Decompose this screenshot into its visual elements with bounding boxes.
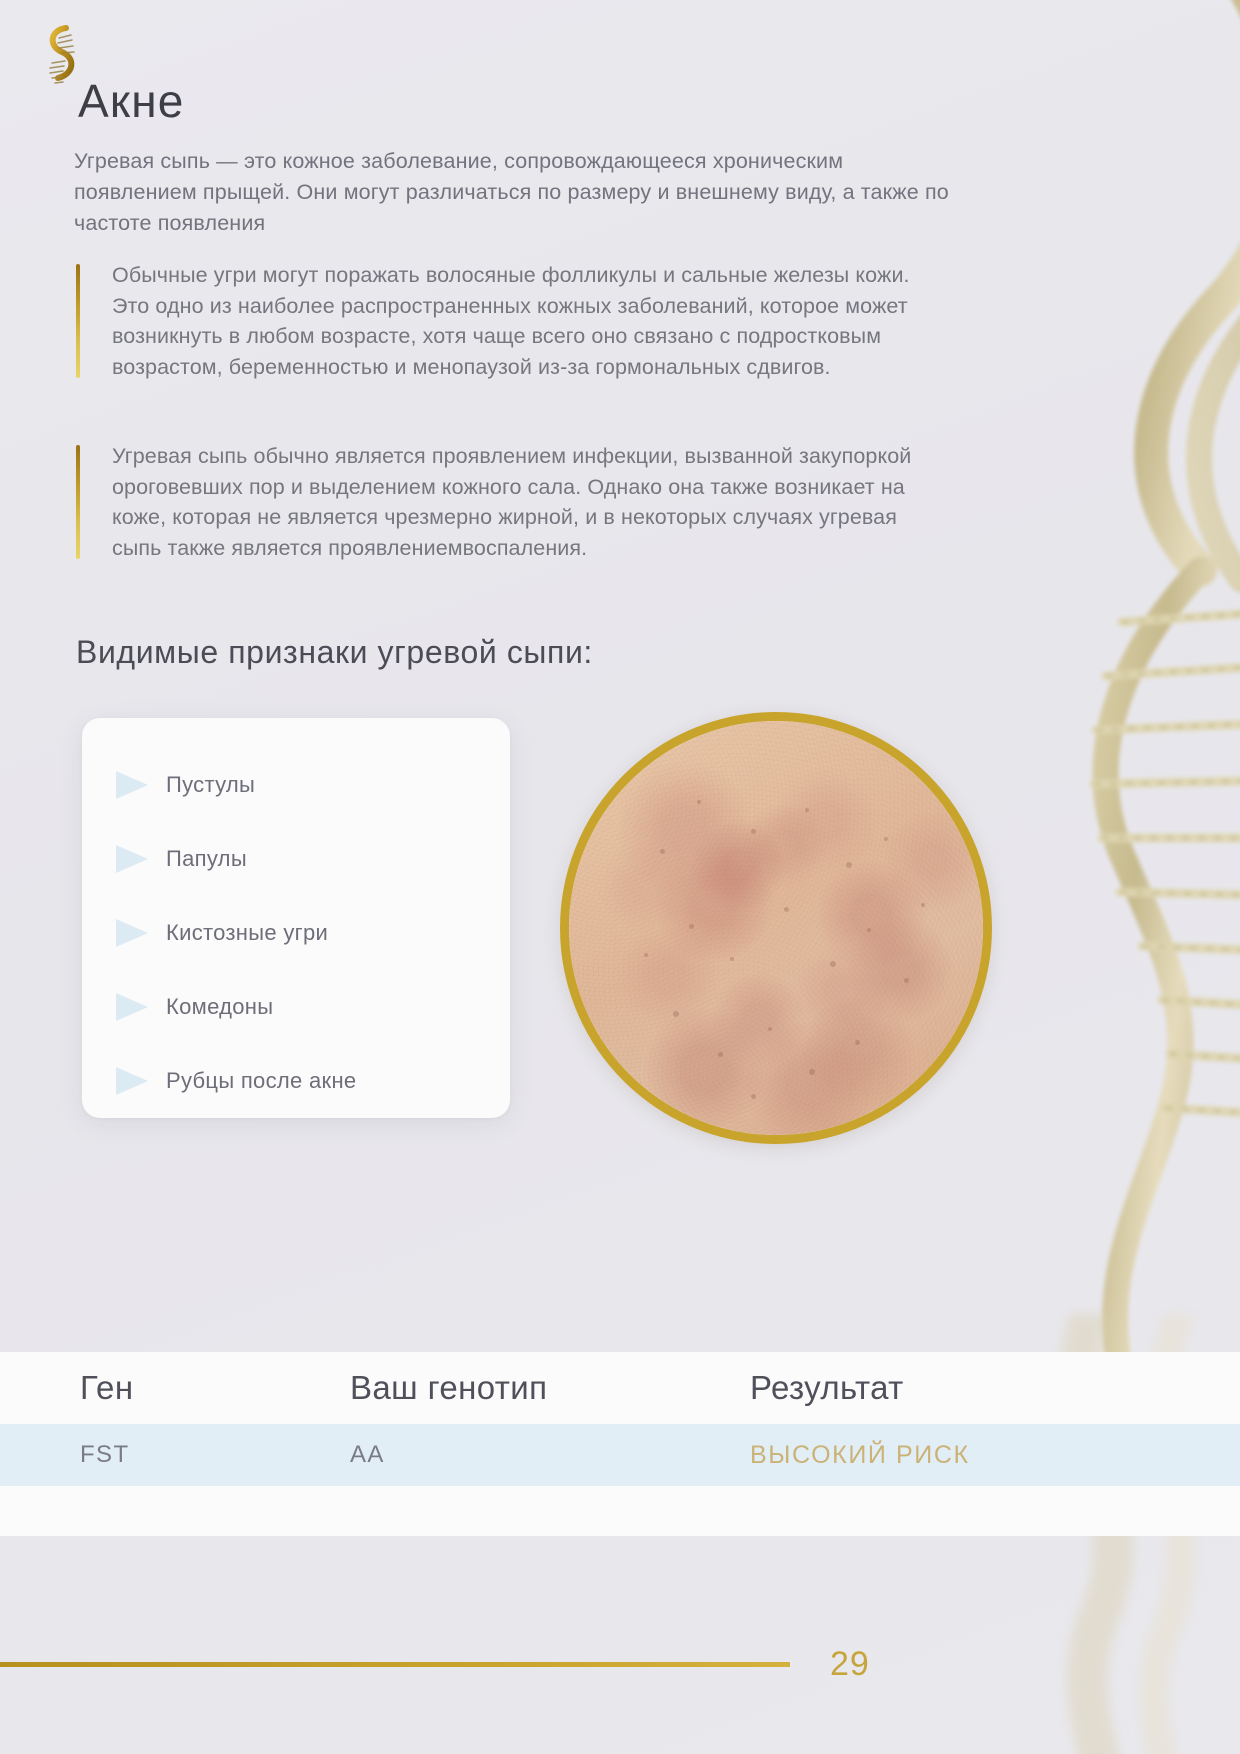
table-cell-genotype: AA [350, 1441, 750, 1469]
page-title: Акне [78, 74, 185, 128]
footer-rule [0, 1662, 790, 1667]
results-table: Ген Ваш генотип Результат FST AA ВЫСОКИЙ… [0, 1352, 1240, 1536]
table-cell-gene: FST [0, 1441, 350, 1469]
page-canvas: Акне Угревая сыпь — это кожное заболеван… [0, 0, 1240, 1754]
triangle-right-icon [112, 768, 152, 802]
list-item-label: Кистозные угри [166, 920, 328, 946]
list-item-label: Пустулы [166, 772, 255, 798]
triangle-right-icon [112, 842, 152, 876]
list-item: Рубцы после акне [82, 1044, 510, 1118]
intro-paragraph: Угревая сыпь — это кожное заболевание, с… [74, 146, 954, 239]
triangle-right-icon [112, 990, 152, 1024]
list-item: Папулы [82, 822, 510, 896]
quote-block-1: Обычные угри могут поражать волосяные фо… [76, 260, 946, 382]
table-footer-spacer [0, 1486, 1240, 1536]
list-item: Кистозные угри [82, 896, 510, 970]
table-header-genotype: Ваш генотип [350, 1369, 750, 1407]
acne-skin-closeup-photo [560, 712, 992, 1144]
table-header-result: Результат [750, 1369, 1160, 1407]
table-header-gene: Ген [0, 1369, 350, 1407]
list-item-label: Папулы [166, 846, 247, 872]
page-footer: 29 [0, 1644, 1240, 1684]
triangle-right-icon [112, 1064, 152, 1098]
list-item: Пустулы [82, 748, 510, 822]
triangle-right-icon [112, 916, 152, 950]
status-badge: ВЫСОКИЙ РИСК [750, 1441, 1160, 1470]
list-item: Комедоны [82, 970, 510, 1044]
table-header-row: Ген Ваш генотип Результат [0, 1352, 1240, 1424]
dna-helix-logo-icon [38, 22, 84, 94]
symptoms-card: Пустулы Папулы Кистозные угри [82, 718, 510, 1118]
list-item-label: Рубцы после акне [166, 1068, 356, 1094]
quote-text-1: Обычные угри могут поражать волосяные фо… [112, 263, 910, 379]
page-number: 29 [830, 1645, 870, 1684]
quote-text-2: Угревая сыпь обычно является проявлением… [112, 444, 911, 560]
list-item-label: Комедоны [166, 994, 273, 1020]
section-subheading: Видимые признаки угревой сыпи: [76, 634, 593, 671]
quote-block-2: Угревая сыпь обычно является проявлением… [76, 441, 946, 563]
skin-pores-overlay [569, 721, 983, 1135]
table-row: FST AA ВЫСОКИЙ РИСК [0, 1424, 1240, 1486]
